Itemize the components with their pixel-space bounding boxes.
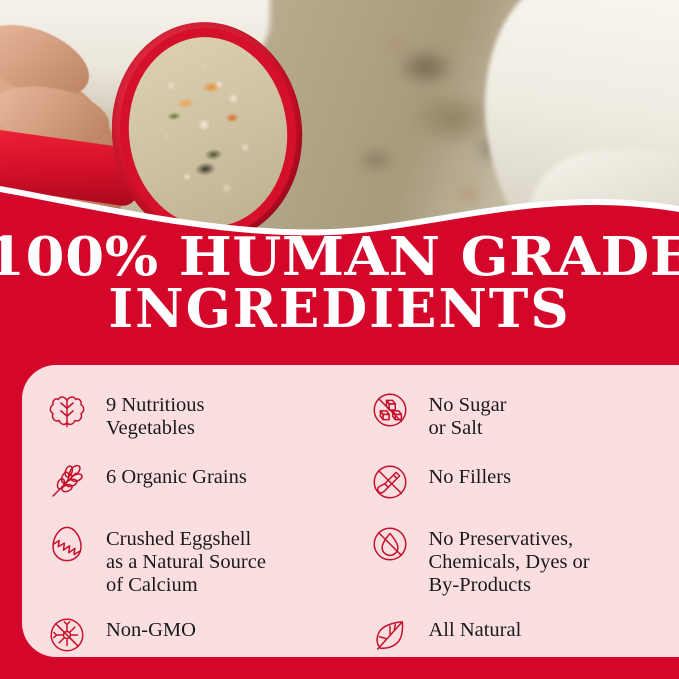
feature-item-no-fillers: No Fillers xyxy=(367,459,679,505)
no-fillers-icon xyxy=(367,459,413,505)
wheat-stalk-icon xyxy=(44,459,90,505)
no-sugar-cubes-icon xyxy=(367,387,413,433)
feature-item-grains: 6 Organic Grains xyxy=(44,459,357,505)
leaf-icon xyxy=(367,612,413,658)
feature-label: Non-GMO xyxy=(106,612,196,642)
feature-label: 9 Nutritious Vegetables xyxy=(106,387,205,441)
feature-label: No Fillers xyxy=(429,459,512,489)
feature-item-no-preservatives: No Preservatives, Chemicals, Dyes or By-… xyxy=(367,521,679,598)
headline-line-2: INGREDIENTS xyxy=(0,284,679,336)
feature-item-vegetables: 9 Nutritious Vegetables xyxy=(44,387,357,441)
feature-label: All Natural xyxy=(429,612,522,642)
headline-line-1: 100% HUMAN GRADE xyxy=(0,232,679,284)
product-infographic: 100% HUMAN GRADE INGREDIENTS xyxy=(0,0,679,679)
feature-item-all-natural: All Natural xyxy=(367,612,679,658)
cracked-egg-icon xyxy=(44,521,90,567)
no-droplet-icon xyxy=(367,521,413,567)
leafy-greens-icon xyxy=(44,387,90,433)
features-column-left: 9 Nutritious Vegetables xyxy=(22,379,357,657)
page-title: 100% HUMAN GRADE INGREDIENTS xyxy=(0,232,679,336)
feature-label: No Sugar or Salt xyxy=(429,387,507,441)
no-gmo-icon xyxy=(44,612,90,658)
feature-label: No Preservatives, Chemicals, Dyes or By-… xyxy=(429,521,590,598)
feature-item-non-gmo: Non-GMO xyxy=(44,612,357,658)
feature-label: 6 Organic Grains xyxy=(106,459,247,489)
feature-item-eggshell: Crushed Eggshell as a Natural Source of … xyxy=(44,521,357,598)
product-photo xyxy=(0,0,679,250)
feature-item-no-sugar-salt: No Sugar or Salt xyxy=(367,387,679,441)
features-column-right: No Sugar or Salt No Fillers xyxy=(357,379,679,657)
feature-label: Crushed Eggshell as a Natural Source of … xyxy=(106,521,266,598)
features-panel: 9 Nutritious Vegetables xyxy=(22,365,679,657)
